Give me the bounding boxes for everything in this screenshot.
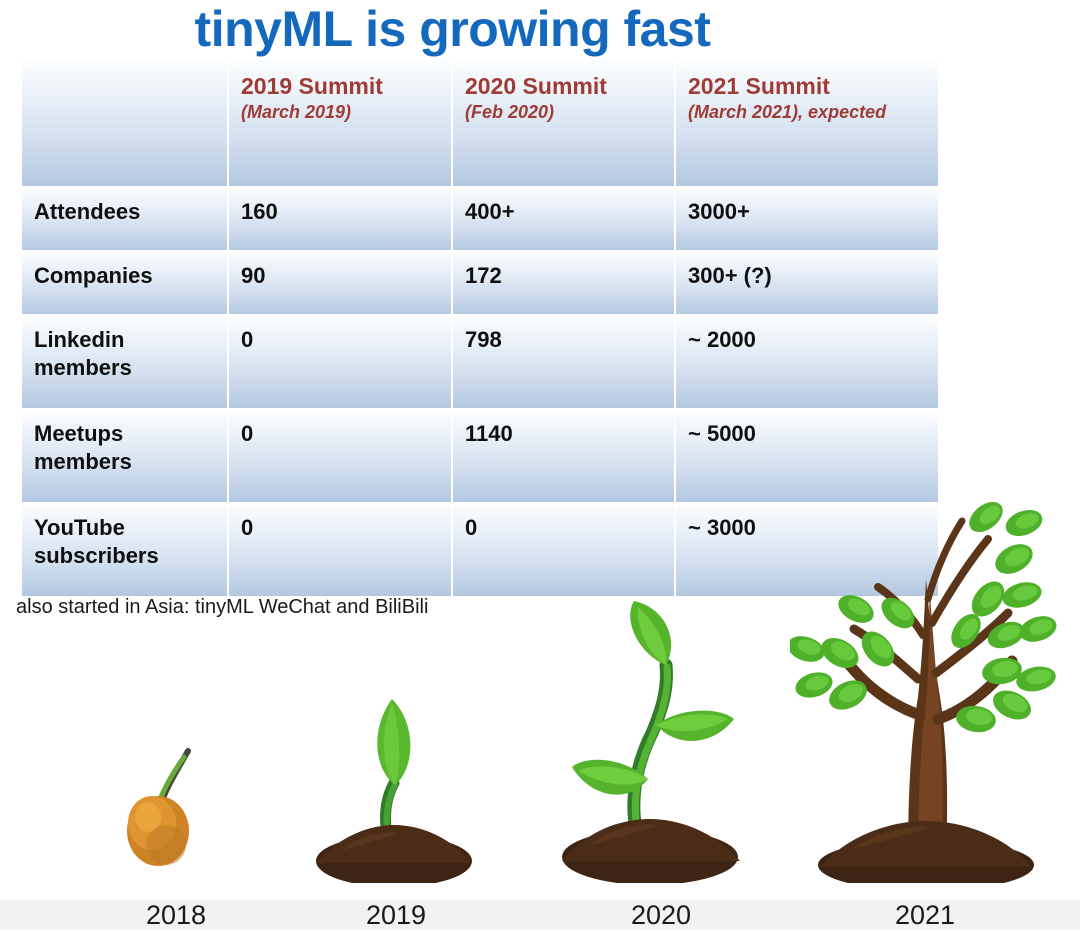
- header-2020-title: 2020 Summit: [465, 72, 662, 100]
- cell-2019: 160: [229, 188, 451, 250]
- growth-stage-2020: 2020: [556, 600, 766, 930]
- row-label-cell: Companies: [22, 252, 227, 314]
- cell-value: 798: [465, 327, 502, 352]
- table-row: Attendees 160 400+ 3000+: [22, 188, 938, 250]
- growth-year-label: 2018: [96, 898, 256, 932]
- header-cell-2021: 2021 Summit (March 2021), expected: [676, 60, 938, 186]
- growth-stage-2018: 2018: [96, 730, 256, 930]
- cell-value: 0: [241, 421, 253, 446]
- row-label: Attendees: [34, 199, 140, 224]
- cell-value: ~ 5000: [688, 421, 756, 446]
- row-label-cell: Attendees: [22, 188, 227, 250]
- header-2019-date: (March 2019): [241, 101, 439, 124]
- header-cell-2019: 2019 Summit (March 2019): [229, 60, 451, 186]
- cell-value: 90: [241, 263, 265, 288]
- cell-value: 3000+: [688, 199, 750, 224]
- cell-value: 300+ (?): [688, 263, 772, 288]
- seedling-three-leaves-icon: [556, 593, 766, 888]
- row-label: Linkedin members: [34, 327, 132, 380]
- cell-2021: ~ 2000: [676, 316, 938, 408]
- seedling-one-leaf-icon: [296, 673, 496, 888]
- cell-value: 400+: [465, 199, 515, 224]
- page-title: tinyML is growing fast: [0, 0, 905, 60]
- header-2020-date: (Feb 2020): [465, 101, 662, 124]
- table-row: Linkedin members 0 798 ~ 2000: [22, 316, 938, 408]
- cell-2021: 3000+: [676, 188, 938, 250]
- cell-2021: 300+ (?): [676, 252, 938, 314]
- table-header-row: 2019 Summit (March 2019) 2020 Summit (Fe…: [22, 60, 938, 186]
- growth-stage-2021: 2021: [790, 480, 1060, 930]
- header-2021-title: 2021 Summit: [688, 72, 926, 100]
- growth-stage-2019: 2019: [296, 680, 496, 930]
- header-2019-title: 2019 Summit: [241, 72, 439, 100]
- cell-value: 0: [241, 327, 253, 352]
- growth-year-label: 2020: [556, 898, 766, 932]
- header-cell-blank: [22, 60, 227, 186]
- cell-value: 160: [241, 199, 278, 224]
- row-label: Companies: [34, 263, 153, 288]
- young-tree-icon: [790, 483, 1060, 888]
- cell-2019: 90: [229, 252, 451, 314]
- header-cell-2020: 2020 Summit (Feb 2020): [453, 60, 674, 186]
- sprouting-seed-icon: [96, 723, 256, 888]
- cell-value: 1140: [465, 421, 513, 446]
- cell-2020: 400+: [453, 188, 674, 250]
- growth-year-label: 2021: [790, 898, 1060, 932]
- cell-2020: 172: [453, 252, 674, 314]
- header-2021-date: (March 2021), expected: [688, 101, 926, 124]
- growth-year-label: 2019: [296, 898, 496, 932]
- cell-2020: 798: [453, 316, 674, 408]
- row-label-cell: Linkedin members: [22, 316, 227, 408]
- cell-2019: 0: [229, 316, 451, 408]
- table-row: Companies 90 172 300+ (?): [22, 252, 938, 314]
- growth-illustration-strip: 2018 2019: [0, 455, 1080, 930]
- cell-value: 172: [465, 263, 502, 288]
- cell-value: ~ 2000: [688, 327, 756, 352]
